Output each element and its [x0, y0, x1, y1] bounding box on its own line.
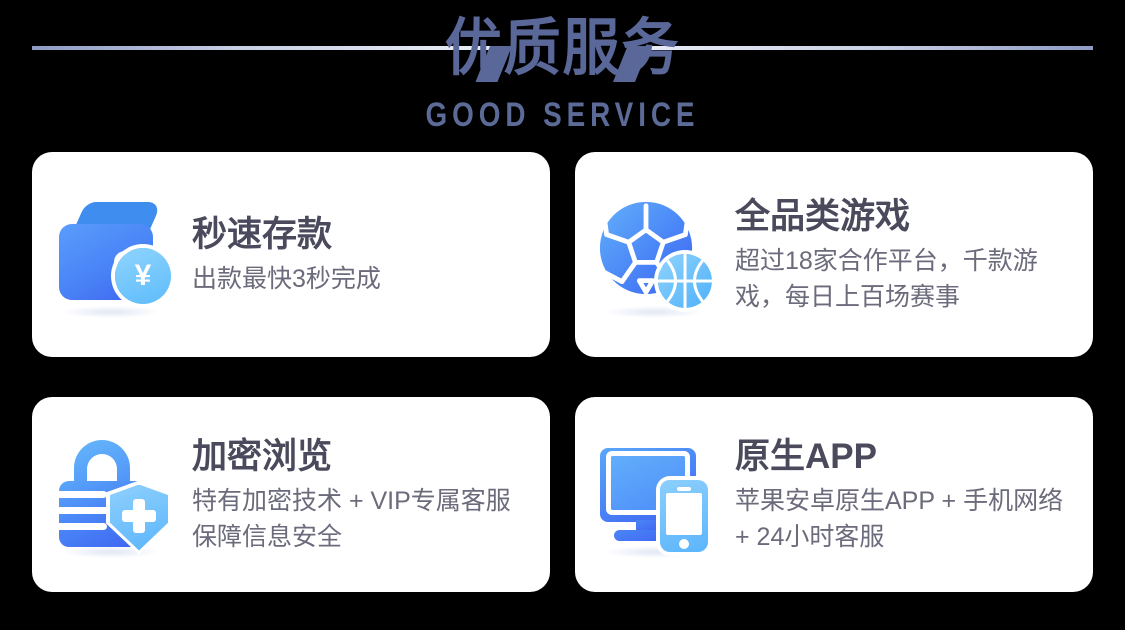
soccer-basketball-icon: [596, 196, 714, 314]
feature-card-encryption[interactable]: 加密浏览 特有加密技术 + VIP专属客服保障信息安全: [32, 397, 550, 592]
card-description: 出款最快3秒完成: [192, 261, 532, 297]
card-icon-slot: [575, 152, 735, 357]
banner-header: 优质服务 GOOD SERVICE: [0, 0, 1125, 148]
card-text-slot: 全品类游戏 超过18家合作平台，千款游戏，每日上百场赛事: [735, 195, 1093, 315]
phone-home-button: [679, 539, 689, 549]
basketball-icon: [658, 254, 712, 308]
page-subtitle: GOOD SERVICE: [101, 95, 1024, 135]
card-title: 加密浏览: [192, 435, 532, 479]
icon-shadow: [63, 306, 159, 318]
feature-card-deposit[interactable]: ¥ 秒速存款 出款最快3秒完成: [32, 152, 550, 357]
monitor-phone-icon: [596, 436, 714, 554]
card-text-slot: 加密浏览 特有加密技术 + VIP专属客服保障信息安全: [192, 435, 550, 555]
feature-card-grid: ¥ 秒速存款 出款最快3秒完成: [32, 152, 1093, 592]
card-text-slot: 秒速存款 出款最快3秒完成: [192, 213, 550, 297]
card-title: 原生APP: [735, 435, 1075, 479]
yen-coin-icon: ¥: [115, 248, 171, 304]
card-description: 超过18家合作平台，千款游戏，每日上百场赛事: [735, 243, 1075, 315]
card-icon-slot: ¥: [32, 152, 192, 357]
phone-screen: [666, 493, 702, 535]
lock-stripe: [59, 523, 107, 530]
promo-banner: 优质服务 GOOD SERVICE ¥ 秒速存款 出款最快3秒完成: [0, 0, 1125, 630]
plus-vertical-bar: [133, 499, 145, 533]
card-icon-slot: [575, 397, 735, 592]
card-description: 特有加密技术 + VIP专属客服保障信息安全: [192, 483, 532, 555]
card-text-slot: 原生APP 苹果安卓原生APP + 手机网络 + 24小时客服: [735, 435, 1093, 555]
feature-card-native-app[interactable]: 原生APP 苹果安卓原生APP + 手机网络 + 24小时客服: [575, 397, 1093, 592]
phone-icon: [660, 480, 708, 552]
lock-shield-icon: [53, 436, 171, 554]
feature-card-games[interactable]: 全品类游戏 超过18家合作平台，千款游戏，每日上百场赛事: [575, 152, 1093, 357]
page-title: 优质服务: [45, 12, 1080, 86]
card-icon-slot: [32, 397, 192, 592]
lock-stripe: [59, 491, 107, 498]
card-description: 苹果安卓原生APP + 手机网络 + 24小时客服: [735, 483, 1075, 555]
card-title: 全品类游戏: [735, 195, 1075, 239]
phone-speaker: [677, 487, 691, 491]
wallet-coin-icon: ¥: [53, 196, 171, 314]
card-title: 秒速存款: [192, 213, 532, 257]
